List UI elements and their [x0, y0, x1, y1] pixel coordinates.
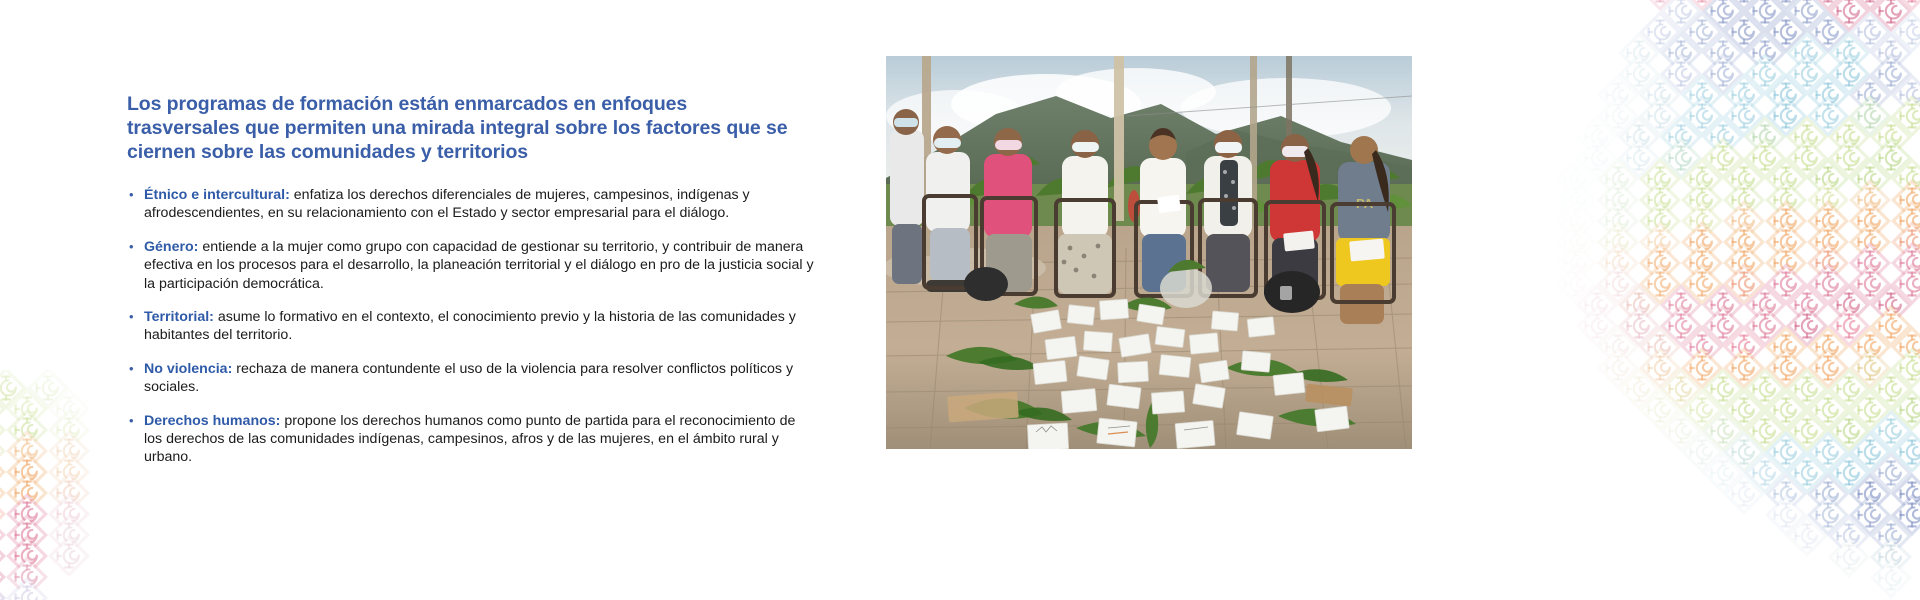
list-item-description: asume lo formativo en el contexto, el co…: [144, 309, 796, 343]
list-item-territorial: • Territorial: asume lo formativo en el …: [127, 308, 816, 345]
list-item-term: Étnico e intercultural:: [144, 187, 290, 203]
list-item-no-violencia: • No violencia: rechaza de manera contun…: [127, 360, 816, 397]
list-item-term: No violencia:: [144, 361, 232, 377]
bullet-marker-icon: •: [129, 412, 134, 430]
list-item-term: Derechos humanos:: [144, 413, 280, 429]
list-item-genero: • Género: entiende a la mujer como grupo…: [127, 238, 816, 293]
list-item-derechos-humanos: • Derechos humanos: propone los derechos…: [127, 412, 816, 467]
list-item-description: rechaza de manera contundente el uso de …: [144, 361, 793, 395]
list-item-etnico-e-intercultural: • Étnico e intercultural: enfatiza los d…: [127, 186, 816, 223]
list-item-description: entiende a la mujer como grupo con capac…: [144, 239, 814, 292]
bullet-marker-icon: •: [129, 238, 134, 256]
page-title: Los programas de formación están enmarca…: [127, 92, 799, 164]
bullet-marker-icon: •: [129, 186, 134, 204]
list-item-term: Territorial:: [144, 309, 214, 325]
community-meeting-photo: PA: [886, 56, 1412, 449]
bullet-marker-icon: •: [129, 360, 134, 378]
list-item-term: Género:: [144, 239, 198, 255]
transversal-approaches-list: • Étnico e intercultural: enfatiza los d…: [127, 186, 827, 467]
decorative-greca-pattern-right: [1490, 0, 1920, 600]
bullet-marker-icon: •: [129, 308, 134, 326]
slide-canvas: Los programas de formación están enmarca…: [0, 0, 1920, 600]
content-text-column: Los programas de formación están enmarca…: [127, 92, 827, 467]
